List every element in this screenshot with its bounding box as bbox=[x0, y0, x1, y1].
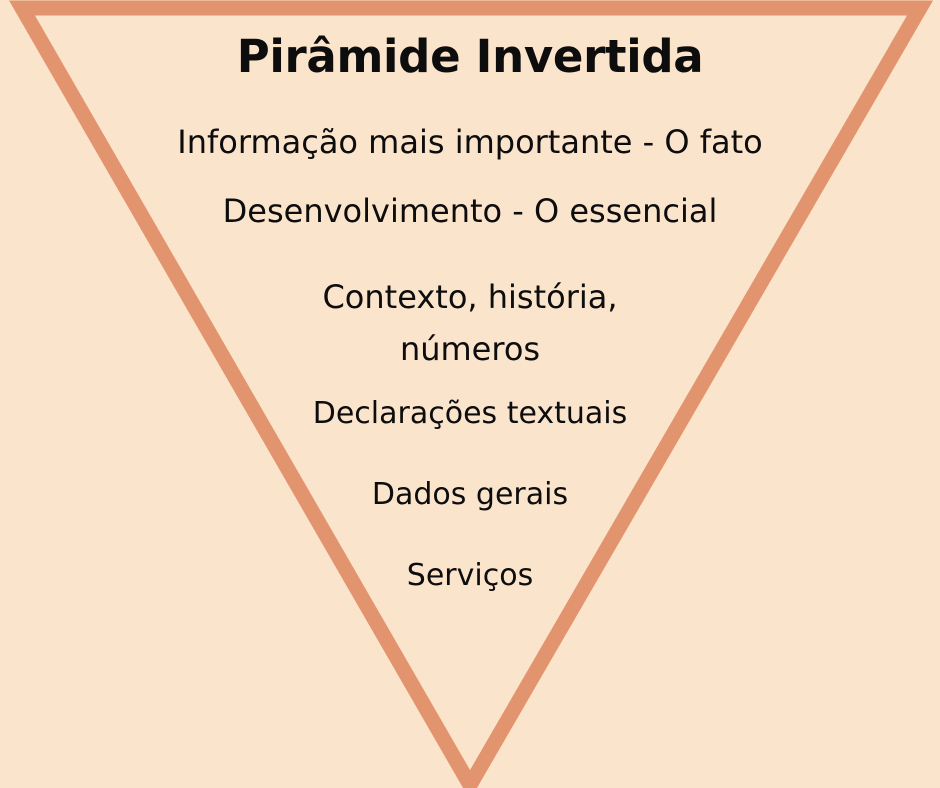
page-title: Pirâmide Invertida bbox=[0, 30, 940, 83]
pyramid-level-1-label: Informação mais importante - O fato bbox=[0, 124, 940, 162]
pyramid-level-5-label: Dados gerais bbox=[0, 477, 940, 512]
pyramid-level-2-label: Desenvolvimento - O essencial bbox=[0, 193, 940, 231]
pyramid-text-layer: Pirâmide Invertida Informação mais impor… bbox=[0, 0, 940, 788]
pyramid-level-6-label: Serviços bbox=[0, 558, 940, 593]
pyramid-level-4-label: Declarações textuais bbox=[0, 396, 940, 431]
diagram-canvas: Pirâmide Invertida Informação mais impor… bbox=[0, 0, 940, 788]
pyramid-level-3-label: Contexto, história, números bbox=[0, 272, 940, 376]
